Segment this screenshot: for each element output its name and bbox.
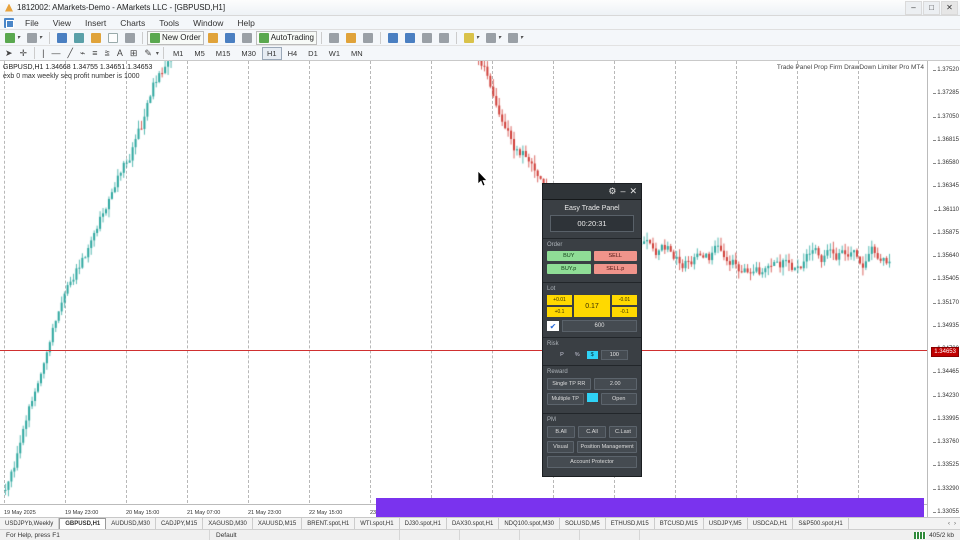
- auto-trading-button[interactable]: AutoTrading: [256, 31, 317, 45]
- chart-tab[interactable]: USDJPY,M5: [704, 518, 748, 529]
- price-scale[interactable]: 1.330551.332901.335251.337601.339951.342…: [927, 61, 960, 517]
- bid-price-label: 1.34653: [931, 347, 959, 357]
- price-tick: 1.33995: [937, 416, 959, 422]
- pm-row-1: B.All C.All C.Last: [547, 426, 637, 438]
- pm-row-2: Visual Position Management: [547, 441, 637, 453]
- lot-controls: +0.01 +0.1 0.17 -0.01 -0.1: [547, 295, 637, 317]
- fibonacci-icon[interactable]: ⌁: [77, 48, 88, 59]
- periodicity-icon[interactable]: ▾: [483, 31, 504, 45]
- promo-banner: SMART PANEL FOR QUICK TRADING: [376, 498, 924, 517]
- toolbar-separator: [163, 47, 164, 59]
- profiles-button[interactable]: ▾: [24, 31, 45, 45]
- tabs-scroll-left-icon[interactable]: ‹: [948, 521, 950, 527]
- position-management-button[interactable]: Position Management: [577, 441, 637, 453]
- zoom-in-icon[interactable]: [385, 31, 401, 45]
- status-help-text: For Help, press F1: [0, 530, 210, 540]
- price-tick: 1.37050: [937, 114, 959, 120]
- timeframe-m1[interactable]: M1: [168, 47, 188, 60]
- auto-scroll-icon[interactable]: [419, 31, 435, 45]
- strategy-tester-button[interactable]: [122, 31, 138, 45]
- toolbar-separator: [49, 32, 50, 44]
- break-all-button[interactable]: B.All: [547, 426, 575, 438]
- expert-advisors-button[interactable]: [222, 31, 238, 45]
- chevron-down-icon[interactable]: ▾: [156, 50, 159, 57]
- chart-header: GBPUSD,H1 1.34668 1.34755 1.34651 1.3465…: [3, 63, 152, 81]
- timeframe-w1[interactable]: W1: [324, 47, 345, 60]
- terminal-button[interactable]: [105, 31, 121, 45]
- chart-tabs-bar: USDJPYb,WeeklyGBPUSD,H1AUDUSD,M30CADJPY,…: [0, 517, 960, 529]
- price-tick: 1.35640: [937, 253, 959, 259]
- order-section-label: Order: [547, 242, 637, 248]
- open-button[interactable]: Open: [601, 393, 638, 405]
- chart-tab[interactable]: DJ30.spot,H1: [400, 518, 447, 529]
- status-profile: Default: [210, 530, 400, 540]
- price-tick: 1.37520: [937, 67, 959, 73]
- risk-section-label: Risk: [547, 341, 637, 347]
- reward-single-row: Single TP RR 2.00: [547, 378, 637, 390]
- price-tick: 1.35170: [937, 300, 959, 306]
- chart-symbol-ohlc: GBPUSD,H1 1.34668 1.34755 1.34651 1.3465…: [3, 63, 152, 72]
- globe-icon[interactable]: [239, 31, 255, 45]
- chart-watermark: Trade Panel Prop Firm DrawDown Limiter P…: [777, 64, 924, 71]
- pm-section-label: PM: [547, 417, 637, 423]
- visual-button[interactable]: Visual: [547, 441, 574, 453]
- status-cell-e: [640, 530, 908, 540]
- promo-banner-text: SMART PANEL FOR QUICK TRADING: [402, 515, 899, 518]
- candlestick-canvas: [0, 61, 927, 517]
- equidistant-channel-icon[interactable]: ≡: [89, 48, 100, 58]
- price-tick: 1.36345: [937, 183, 959, 189]
- new-order-label: New Order: [162, 33, 201, 42]
- price-tick: 1.36110: [938, 207, 959, 213]
- line-studies-toolbar: ➤ ✛ | — ╱ ⌁ ≡ ⩰ A ⊞ ✎ ▾ M1 M5 M15 M30 H1…: [0, 46, 960, 61]
- buy-pending-button[interactable]: BUY.p: [547, 264, 591, 274]
- status-cell-d: [580, 530, 640, 540]
- time-tick: 20 May 15:00: [126, 510, 159, 516]
- risk-mode-points[interactable]: P: [556, 351, 568, 359]
- order-row-primary: BUY SELL: [547, 251, 637, 261]
- buy-button[interactable]: BUY: [547, 251, 591, 261]
- chart-tab[interactable]: BTCUSD,M15: [655, 518, 704, 529]
- time-tick: 21 May 07:00: [187, 510, 220, 516]
- chart-tab[interactable]: BRENT.spot,H1: [302, 518, 355, 529]
- panel-minimize-icon[interactable]: –: [620, 187, 625, 196]
- window-titlebar: 1812002: AMarkets-Demo - AMarkets LLC - …: [0, 0, 960, 16]
- lot-increase-column: +0.01 +0.1: [547, 295, 572, 317]
- menu-item-charts[interactable]: Charts: [113, 18, 152, 28]
- auto-trading-label: AutoTrading: [271, 33, 314, 42]
- auto-trading-icon: [259, 33, 269, 43]
- menu-item-help[interactable]: Help: [230, 18, 261, 28]
- panel-titlebar: ⚙ – ✕: [543, 184, 641, 200]
- vertical-line-icon[interactable]: |: [39, 48, 47, 58]
- menu-item-file[interactable]: File: [18, 18, 46, 28]
- toolbar-separator: [142, 32, 143, 44]
- status-bar: For Help, press F1 Default 405/2 kb: [0, 529, 960, 540]
- order-section: Order BUY SELL BUY.p SELL.p: [543, 238, 641, 282]
- tabs-scroll-right-icon[interactable]: ›: [954, 521, 956, 527]
- risk-mode-percent[interactable]: %: [571, 351, 584, 359]
- timeframe-m5[interactable]: M5: [189, 47, 209, 60]
- maximize-button[interactable]: □: [923, 1, 940, 15]
- timeframe-d1[interactable]: D1: [303, 47, 323, 60]
- chart-subheader: exb 0 max weekly seq profit number is 10…: [3, 72, 152, 81]
- pm-section: PM B.All C.All C.Last Visual Position Ma…: [543, 413, 641, 476]
- sell-button[interactable]: SELL: [594, 251, 638, 261]
- new-chart-button[interactable]: ▾: [2, 31, 23, 45]
- text-icon[interactable]: A: [114, 48, 126, 58]
- multiple-tp-button[interactable]: Multiple TP: [547, 393, 584, 405]
- lot-plus-001-button[interactable]: +0.01: [547, 295, 572, 305]
- new-order-icon: [150, 33, 160, 43]
- navigator-button[interactable]: [88, 31, 104, 45]
- pm-row-3: Account Protector: [547, 456, 637, 468]
- data-window-button[interactable]: [71, 31, 87, 45]
- status-traffic: 405/2 kb: [908, 530, 960, 540]
- risk-value-field[interactable]: 100: [601, 350, 628, 360]
- order-row-pending: BUY.p SELL.p: [547, 264, 637, 274]
- toolbar-separator: [456, 32, 457, 44]
- chart-tab[interactable]: ETHUSD,M15: [606, 518, 655, 529]
- status-cell-a: [400, 530, 460, 540]
- panel-close-icon[interactable]: ✕: [629, 187, 637, 196]
- timeframe-mn[interactable]: MN: [346, 47, 368, 60]
- lot-amount-row: ✔ 600: [547, 320, 637, 332]
- reward-section: Reward Single TP RR 2.00 Multiple TP Ope…: [543, 365, 641, 413]
- horizontal-line-icon[interactable]: —: [48, 48, 63, 58]
- new-order-button[interactable]: New Order: [147, 31, 204, 45]
- signal-bars-icon: [914, 532, 926, 539]
- minimize-button[interactable]: –: [905, 1, 922, 15]
- bar-chart-icon[interactable]: [326, 31, 342, 45]
- main-toolbar: ▾ ▾ New Order AutoTrading ▾ ▾ ▾: [0, 30, 960, 46]
- menu-item-insert[interactable]: Insert: [78, 18, 113, 28]
- app-logo-icon: [4, 3, 14, 13]
- chart-tab[interactable]: NDQ100.spot,M30: [499, 518, 560, 529]
- close-button[interactable]: ✕: [941, 1, 958, 15]
- arrows-icon[interactable]: ✎: [141, 48, 155, 59]
- status-cell-b: [460, 530, 520, 540]
- price-tick: 1.33290: [937, 486, 959, 492]
- chart-tab[interactable]: CADJPY,M15: [156, 518, 203, 529]
- chart-tab[interactable]: XAGUSD,M30: [203, 518, 253, 529]
- lot-minus-001-button[interactable]: -0.01: [612, 295, 637, 305]
- chart-tab[interactable]: DAX30.spot,H1: [447, 518, 499, 529]
- price-tick: 1.34465: [937, 369, 959, 375]
- price-tick: 1.36580: [937, 160, 959, 166]
- chart-tab[interactable]: AUDUSD,M30: [106, 518, 156, 529]
- templates-icon[interactable]: ▾: [505, 31, 526, 45]
- gear-icon[interactable]: ⚙: [608, 187, 616, 196]
- toolbar-separator: [321, 32, 322, 44]
- line-chart-icon[interactable]: [360, 31, 376, 45]
- menu-item-view[interactable]: View: [46, 18, 78, 28]
- indicators-icon[interactable]: ▾: [461, 31, 482, 45]
- chart-area[interactable]: GBPUSD,H1 1.34668 1.34755 1.34651 1.3465…: [0, 61, 960, 517]
- toolbar-separator: [380, 32, 381, 44]
- market-watch-button[interactable]: [54, 31, 70, 45]
- easy-trade-panel[interactable]: ⚙ – ✕ Easy Trade Panel 00:20:31 Order BU…: [542, 183, 642, 477]
- timeframe-m15[interactable]: M15: [211, 47, 236, 60]
- trendline-icon[interactable]: ╱: [64, 48, 75, 59]
- reward-section-label: Reward: [547, 369, 637, 375]
- lot-minus-01-button[interactable]: -0.1: [612, 307, 637, 317]
- toolbar-separator: [34, 47, 35, 59]
- multiple-tp-color-swatch[interactable]: [587, 393, 598, 402]
- timeframe-m30[interactable]: M30: [236, 47, 261, 60]
- risk-mode-money[interactable]: $: [587, 351, 598, 359]
- chart-tab[interactable]: WTI.spot,H1: [355, 518, 399, 529]
- lot-value[interactable]: 0.17: [574, 295, 610, 317]
- price-tick: 1.34935: [937, 323, 959, 329]
- window-controls: – □ ✕: [905, 1, 958, 15]
- sell-pending-button[interactable]: SELL.p: [594, 264, 638, 274]
- text-label-icon[interactable]: ⊞: [127, 48, 141, 59]
- time-tick: 19 May 23:00: [65, 510, 98, 516]
- timeframe-h4[interactable]: H4: [283, 47, 303, 60]
- price-tick: 1.33525: [937, 462, 959, 468]
- menu-bar: File View Insert Charts Tools Window Hel…: [0, 16, 960, 30]
- chart-tab[interactable]: XAUUSD,M15: [253, 518, 302, 529]
- mt4-application: 1812002: AMarkets-Demo - AMarkets LLC - …: [0, 0, 960, 540]
- time-tick: 21 May 23:00: [248, 510, 281, 516]
- price-tick: 1.33760: [937, 439, 959, 445]
- candle-chart-icon[interactable]: [343, 31, 359, 45]
- crosshair-icon[interactable]: ✛: [17, 48, 31, 59]
- lot-section-label: Lot: [547, 286, 637, 292]
- single-tp-rr-button[interactable]: Single TP RR: [547, 378, 591, 390]
- panel-title: Easy Trade Panel: [543, 200, 641, 215]
- metaeditor-button[interactable]: [205, 31, 221, 45]
- window-title: 1812002: AMarkets-Demo - AMarkets LLC - …: [17, 3, 905, 12]
- panel-timer: 00:20:31: [550, 215, 634, 232]
- lot-decrease-column: -0.01 -0.1: [612, 295, 637, 317]
- bid-price-line: [0, 350, 927, 351]
- chart-tab[interactable]: SOLUSD,M5: [560, 518, 606, 529]
- chart-tab[interactable]: USDJPYb,Weekly: [0, 518, 59, 529]
- cursor-icon[interactable]: ➤: [2, 48, 16, 59]
- lot-checkbox[interactable]: ✔: [547, 321, 559, 331]
- risk-section: Risk P % $ 100: [543, 337, 641, 365]
- menu-item-window[interactable]: Window: [186, 18, 230, 28]
- risk-controls: P % $ 100: [547, 350, 637, 360]
- price-tick: 1.37285: [937, 90, 959, 96]
- time-tick: 19 May 2025: [4, 510, 36, 516]
- reward-multiple-row: Multiple TP Open: [547, 393, 637, 405]
- price-tick: 1.33055: [937, 509, 959, 515]
- zoom-out-icon[interactable]: [402, 31, 418, 45]
- menu-logo-icon: [4, 18, 14, 28]
- time-tick: 22 May 15:00: [309, 510, 342, 516]
- single-tp-rr-value[interactable]: 2.00: [594, 378, 638, 390]
- price-tick: 1.36815: [937, 137, 959, 143]
- linear-regression-icon[interactable]: ⩰: [102, 48, 113, 59]
- price-tick: 1.35405: [937, 276, 959, 282]
- account-protector-button[interactable]: Account Protector: [547, 456, 637, 468]
- chart-tab[interactable]: S&P500.spot,H1: [793, 518, 848, 529]
- menu-item-tools[interactable]: Tools: [152, 18, 186, 28]
- lot-amount-field[interactable]: 600: [562, 320, 637, 332]
- chart-shift-icon[interactable]: [436, 31, 452, 45]
- price-tick: 1.35875: [937, 230, 959, 236]
- lot-plus-01-button[interactable]: +0.1: [547, 307, 572, 317]
- status-traffic-label: 405/2 kb: [929, 532, 954, 539]
- chart-tab[interactable]: USDCAD,H1: [748, 518, 794, 529]
- lot-section: Lot +0.01 +0.1 0.17 -0.01 -0.1 ✔ 600: [543, 282, 641, 337]
- chart-tab[interactable]: GBPUSD,H1: [59, 518, 106, 529]
- close-all-button[interactable]: C.All: [578, 426, 606, 438]
- tabs-scroll-controls: ‹ ›: [948, 521, 960, 527]
- close-last-button[interactable]: C.Last: [609, 426, 637, 438]
- status-cell-c: [520, 530, 580, 540]
- price-tick: 1.34230: [937, 393, 959, 399]
- timeframe-h1[interactable]: H1: [262, 47, 282, 60]
